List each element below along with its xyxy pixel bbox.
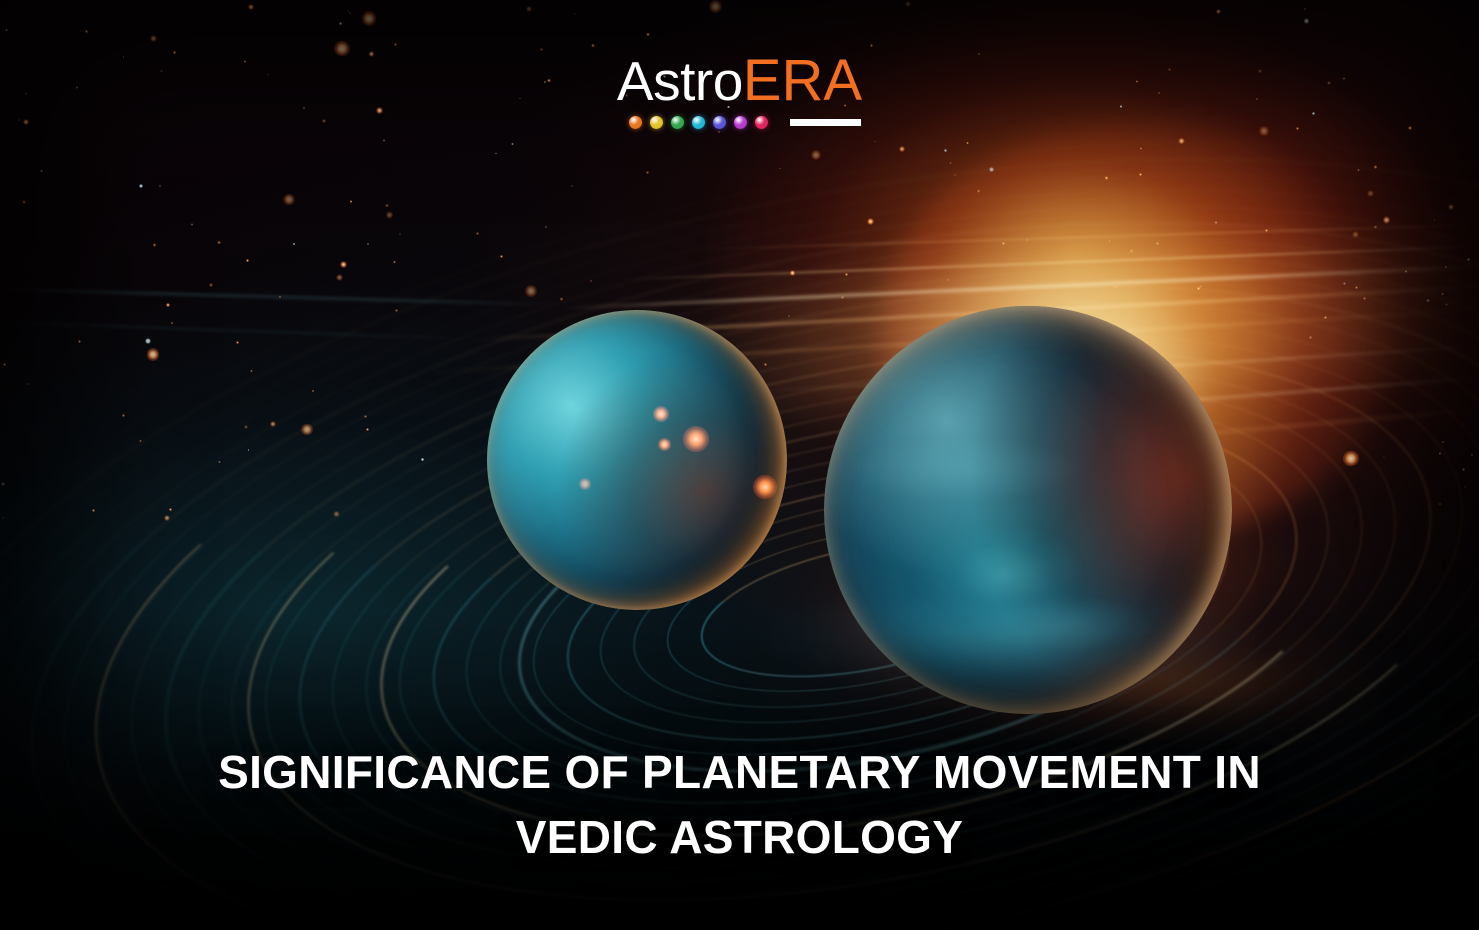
brand-name-era: ERA [743, 52, 862, 110]
dot-pink [755, 116, 768, 129]
dot-purple [734, 116, 747, 129]
brand-logo[interactable]: Astro ERA [0, 52, 1479, 129]
brand-name-astro: Astro [617, 54, 743, 109]
poster-canvas: Astro ERA SIGNIFICANCE OF PLANETARY MOVE… [0, 0, 1479, 930]
brand-color-dots [619, 116, 768, 129]
dot-orange [629, 116, 642, 129]
page-title-line-1: SIGNIFICANCE OF PLANETARY MOVEMENT IN [0, 740, 1479, 805]
dot-yellow [650, 116, 663, 129]
page-title: SIGNIFICANCE OF PLANETARY MOVEMENT IN VE… [0, 740, 1479, 871]
dot-green [671, 116, 684, 129]
page-title-line-2: VEDIC ASTROLOGY [0, 805, 1479, 870]
dot-blue [713, 116, 726, 129]
brand-underline-bar [790, 119, 861, 126]
dot-cyan [692, 116, 705, 129]
brand-wordmark: Astro ERA [617, 52, 862, 110]
brand-underrow [619, 116, 861, 129]
